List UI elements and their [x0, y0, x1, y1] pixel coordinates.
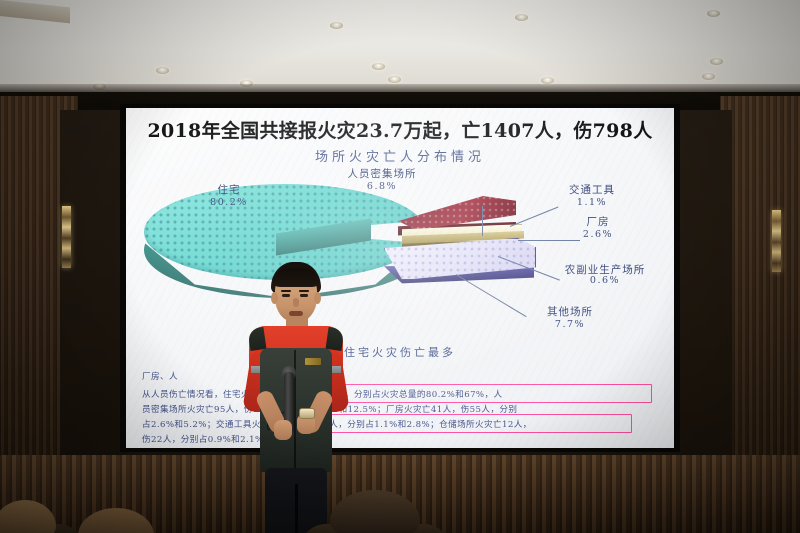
leader-line-crowded	[482, 206, 483, 236]
slide-body-line: 员密集场所火灾亡95人，伤134人，分别占6.8%和12.5%；厂房火灾亡41人…	[142, 403, 662, 415]
downlight-icon	[388, 76, 401, 83]
nose	[293, 298, 299, 307]
downlight-icon	[330, 22, 343, 29]
uniform-badge	[305, 358, 321, 365]
wall-panel-left	[60, 110, 128, 470]
pie-label-transport: 交通工具 1.1%	[544, 184, 640, 209]
ear-left	[271, 292, 278, 304]
downlight-icon	[156, 67, 169, 74]
slide-title: 2018年全国共接报火灾23.7万起，亡1407人，伤798人	[126, 116, 674, 143]
pie-label-crowded: 人员密集场所 6.8%	[322, 168, 442, 193]
pie-chart: 人员密集场所 6.8% 交通工具 1.1% 厂房 2.6% 农副业生产场所 0.…	[126, 170, 674, 330]
wall-sign-left	[62, 206, 71, 268]
trouser-seam	[295, 484, 298, 533]
hand-left	[274, 420, 292, 440]
slide-body-line: 伤22人，分别占0.9%和2.1%。	[142, 433, 662, 445]
slide-lower-heading: 住宅火灾伤亡最多	[126, 344, 674, 360]
eye-left	[282, 294, 290, 297]
downlight-icon	[515, 14, 528, 21]
slide-body-line: 从人员伤亡情况看，住宅火灾亡1200人，伤713人，分别占火灾总量的80.2%和…	[142, 388, 662, 400]
pie-label-residential: 住宅 80.2%	[184, 184, 274, 209]
slide-subtitle: 场所火灾亡人分布情况	[126, 146, 674, 165]
shoulder-patch-left	[248, 327, 267, 351]
downlight-icon	[541, 77, 554, 84]
eye-right	[300, 294, 308, 297]
pie-label-other: 其他场所 7.7%	[522, 306, 618, 331]
wall-sign-right	[772, 210, 781, 272]
slide-body-line: 占2.6%和5.2%；交通工具火灾亡17人，伤30人，分别占1.1%和2.8%；…	[142, 418, 662, 430]
downlight-icon	[372, 63, 385, 70]
wristwatch	[299, 408, 315, 419]
eyebrow-left	[281, 290, 291, 292]
pie-label-agriculture: 农副业生产场所 0.6%	[546, 264, 664, 287]
downlight-icon	[710, 58, 723, 65]
pie-label-factory: 厂房 2.6%	[556, 216, 640, 241]
leader-line-transport	[510, 207, 559, 227]
slide-body-line: 厂房、人	[142, 370, 662, 382]
shoulder-patch-right	[326, 327, 345, 351]
wall-panel-right	[672, 110, 732, 470]
leader-line-other	[456, 274, 527, 317]
projection-screen: 2018年全国共接报火灾23.7万起，亡1407人，伤798人 场所火灾亡人分布…	[126, 108, 674, 448]
eyebrow-right	[299, 290, 309, 292]
downlight-icon	[702, 73, 715, 80]
hair-front	[272, 268, 320, 287]
screenshot-root: 2018年全国共接报火灾23.7万起，亡1407人，伤798人 场所火灾亡人分布…	[0, 0, 800, 533]
ear-right	[314, 292, 321, 304]
presenter	[243, 262, 349, 533]
downlight-icon	[707, 10, 720, 17]
